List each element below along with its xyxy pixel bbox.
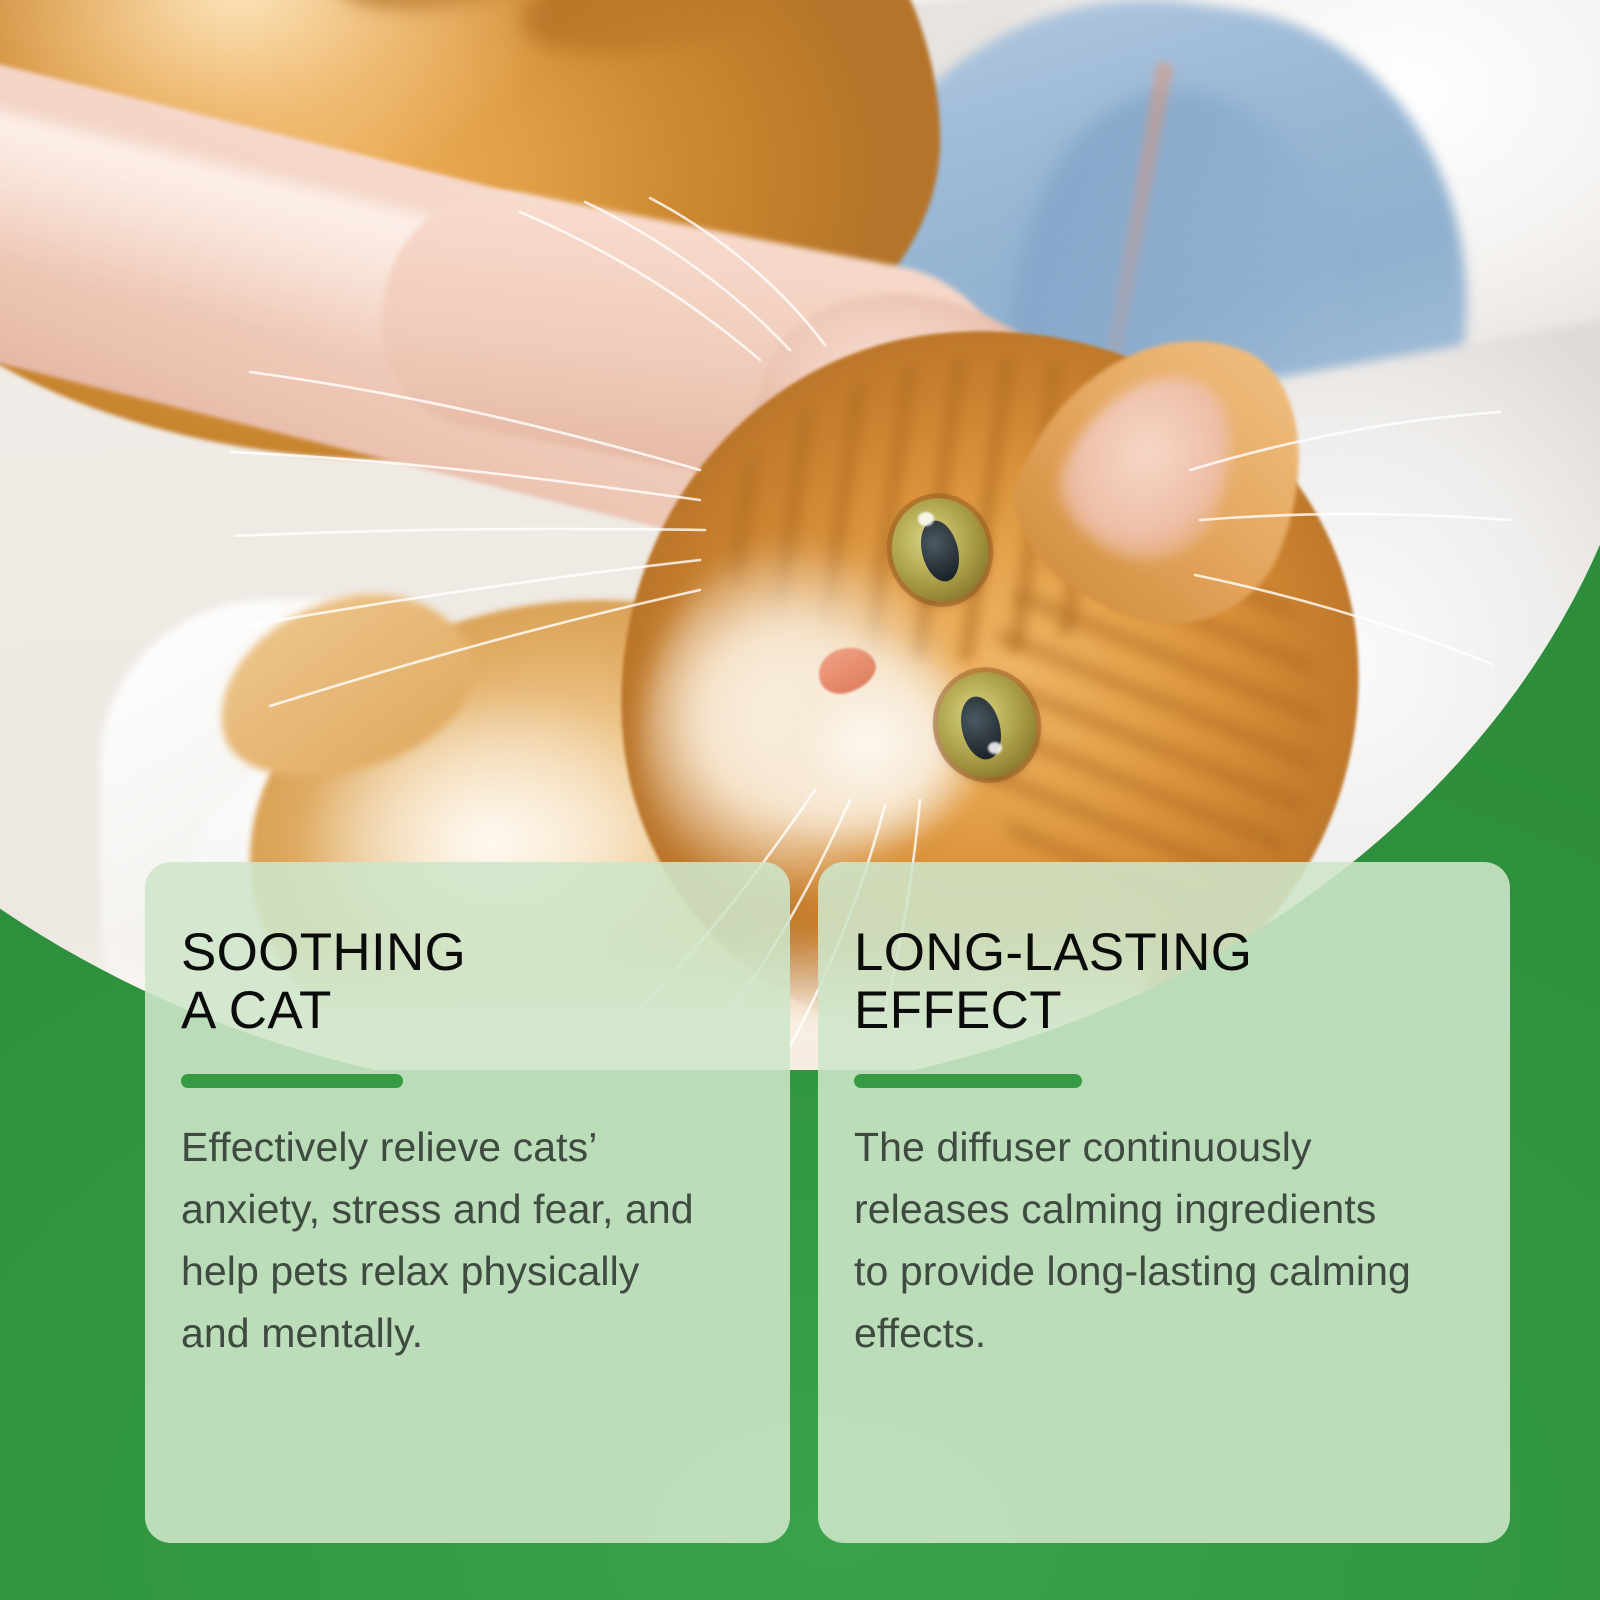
feature-title: LONG-LASTING EFFECT (854, 924, 1466, 1040)
feature-card-soothing-a-cat[interactable]: SOOTHING A CAT Effectively relieve cats’… (145, 862, 790, 1543)
feature-body-text: The diffuser continuously releases calmi… (854, 1116, 1414, 1364)
feature-accent-bar (181, 1074, 403, 1088)
feature-title: SOOTHING A CAT (181, 924, 746, 1040)
feature-cards: SOOTHING A CAT Effectively relieve cats’… (0, 0, 1600, 1600)
feature-accent-bar (854, 1074, 1082, 1088)
feature-card-long-lasting-effect[interactable]: LONG-LASTING EFFECT The diffuser continu… (818, 862, 1510, 1543)
product-feature-banner: SOOTHING A CAT Effectively relieve cats’… (0, 0, 1600, 1600)
feature-body-text: Effectively relieve cats’ anxiety, stres… (181, 1116, 711, 1364)
